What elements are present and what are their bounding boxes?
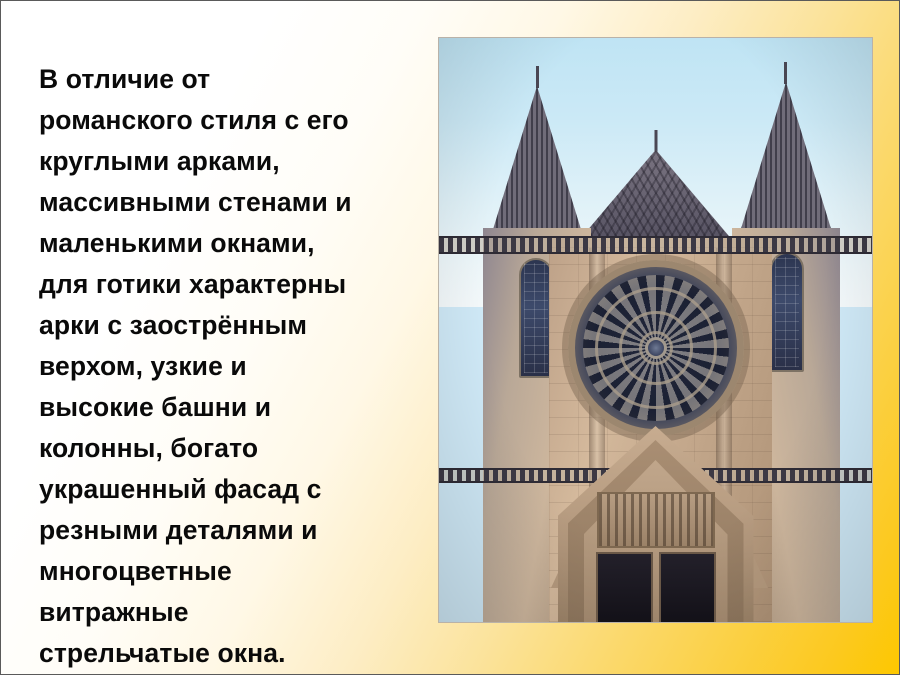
- text-line: резными деталями и: [39, 510, 424, 551]
- text-line: колонны, богато: [39, 428, 424, 469]
- slide-body-text: В отличие от романского стиля с его круг…: [39, 59, 424, 674]
- right-spire-finial: [784, 62, 787, 84]
- text-line: арки с заострённым: [39, 305, 424, 346]
- portal-tympanum-relief: [597, 492, 715, 548]
- portal-doors: [596, 552, 716, 622]
- rose-window-core: [645, 337, 667, 359]
- text-line: романского стиля с его: [39, 100, 424, 141]
- gable-finial-ornament: [654, 130, 657, 152]
- left-tower-lancet-window: [519, 258, 553, 378]
- text-line: маленькими окнами,: [39, 223, 424, 264]
- left-spire-finial: [536, 66, 539, 88]
- text-line: витражные: [39, 592, 424, 633]
- portal-door-right: [659, 552, 716, 622]
- text-line: стрельчатые окна.: [39, 633, 424, 674]
- cathedral-photo-content: [439, 38, 872, 622]
- rose-window: [568, 260, 744, 436]
- portal-door-left: [596, 552, 653, 622]
- text-line: В отличие от: [39, 59, 424, 100]
- text-line: массивными стенами и: [39, 182, 424, 223]
- text-line: многоцветные: [39, 551, 424, 592]
- text-line: украшенный фасад с: [39, 469, 424, 510]
- right-tower-lancet-window: [770, 252, 804, 372]
- presentation-slide: В отличие от романского стиля с его круг…: [0, 0, 900, 675]
- text-line: высокие башни и: [39, 387, 424, 428]
- cathedral-photo: [438, 37, 873, 623]
- text-line: для готики характерны: [39, 264, 424, 305]
- upper-balustrade-band: [439, 236, 872, 254]
- text-line: верхом, узкие и: [39, 346, 424, 387]
- text-line: круглыми арками,: [39, 141, 424, 182]
